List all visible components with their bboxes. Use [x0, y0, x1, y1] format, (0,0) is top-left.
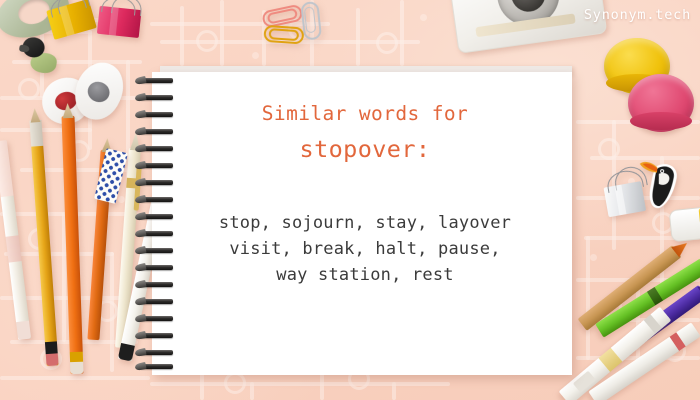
bird-figurine-green-icon — [16, 31, 61, 72]
binder-clip-magenta-icon — [96, 6, 143, 42]
binder-clip-silver-icon — [604, 181, 649, 219]
glue-bottle-white-icon — [669, 206, 700, 241]
macaron-pink-icon — [628, 74, 694, 132]
site-watermark: Synonym.tech — [584, 7, 691, 23]
spiral-binding — [140, 78, 180, 370]
paper-clip-yellow-icon — [264, 25, 301, 40]
notepad-paper — [152, 72, 572, 375]
